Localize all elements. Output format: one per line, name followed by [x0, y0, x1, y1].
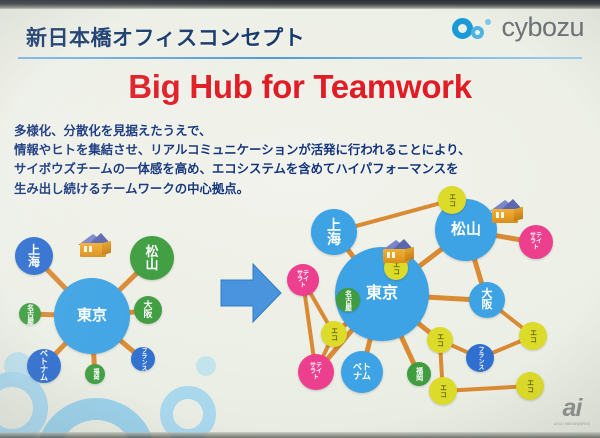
diagram-node-l-vietnam[interactable]: ベトナム [27, 349, 61, 383]
diagram-node-r-france[interactable]: フランス [466, 344, 494, 372]
diagram-node-r-eco4[interactable]: エコ [427, 327, 453, 353]
diagram-node-r-shanghai[interactable]: 上海 [311, 209, 357, 255]
node-label: ナム [353, 372, 371, 381]
node-label: ト [530, 245, 542, 251]
node-label: 阪 [482, 300, 493, 311]
node-label: ム [40, 374, 48, 382]
diagram-node-r-eco5[interactable]: エコ [519, 322, 547, 350]
projection-top-band [0, 0, 600, 9]
diagram-node-r-eco6[interactable]: エコ [429, 377, 457, 405]
diagram-node-l-nagoya[interactable]: 名古屋 [19, 303, 41, 325]
logo-dot-icon [485, 19, 491, 25]
node-label: 東京 [77, 308, 107, 323]
node-label: ト [297, 283, 309, 289]
body-line-1: 多様化、分散化を見据えたうえで、 [14, 122, 586, 141]
body-copy: 多様化、分散化を見据えたうえで、情報やヒトを集結させ、リアルコミュニケーションが… [14, 122, 586, 199]
body-line-3: サイボウズチームの一体感を高め、エコシステムを含めてハイパフォーマンスを [14, 160, 586, 179]
node-label: 上 [327, 218, 341, 232]
node-label: 福岡 [415, 367, 422, 381]
diagram-node-l-france[interactable]: フランス [131, 347, 155, 371]
ai-logo-subtext: ASCII MEDIAWORKS [554, 422, 590, 426]
logo-ring-large-icon [452, 18, 473, 39]
node-label: フランス [477, 346, 483, 370]
diagram-node-r-osaka[interactable]: 大阪 [469, 282, 505, 318]
node-label: エコ [392, 261, 399, 275]
slide-canvas: 新日本橋オフィスコンセプト cybozu Big Hub for Teamwor… [0, 0, 600, 438]
node-label: 海 [28, 256, 40, 268]
node-label: 福岡 [92, 368, 98, 380]
diagram-node-l-shanghai[interactable]: 上海 [15, 237, 53, 275]
node-label: 東京 [366, 286, 398, 302]
node-label: 海 [327, 232, 341, 246]
node-label: エコ [529, 329, 536, 343]
cybozu-logotype: cybozu [501, 12, 584, 43]
diagram-node-r-vietnam[interactable]: ベトナム [341, 351, 383, 393]
node-label: フランス [140, 347, 146, 371]
node-label: エコ [330, 327, 337, 341]
diagram-node-l-matsuyama[interactable]: 松山 [130, 236, 174, 280]
diagram-node-l-fukuoka[interactable]: 福岡 [85, 364, 105, 384]
node-label: ト [310, 375, 322, 381]
node-label: エコ [526, 379, 533, 393]
headline: Big Hub for Teamwork [0, 68, 600, 106]
body-line-2: 情報やヒトを集結させ、リアルコミュニケーションが活発に行われることにより、 [14, 141, 586, 160]
cybozu-rings-icon [452, 14, 496, 42]
node-label: 松 [145, 245, 158, 258]
logo-ring-small-icon [471, 26, 484, 39]
node-label: 阪 [143, 310, 152, 319]
diagram-node-l-tokyo[interactable]: 東京 [54, 278, 130, 354]
node-label: 松山 [451, 222, 481, 237]
projection-bottom-band [0, 432, 600, 438]
node-label: 名古屋 [344, 290, 351, 311]
cybozu-logo: cybozu [452, 12, 584, 43]
diagram-node-l-osaka[interactable]: 大阪 [134, 296, 162, 324]
node-label: エコ [448, 193, 455, 207]
transition-arrow-icon [219, 262, 283, 324]
diagram-node-r-fukuoka[interactable]: 福岡 [407, 362, 431, 386]
node-label: 名古屋 [26, 304, 33, 325]
diagram-node-r-eco3[interactable]: エコ [321, 321, 347, 347]
diagram-node-r-eco7[interactable]: エコ [516, 372, 544, 400]
ascii-watermark: ai ASCII MEDIAWORKS [554, 396, 590, 426]
node-label: エコ [436, 333, 443, 347]
diagram-node-r-sat3[interactable]: サテライト [519, 225, 553, 259]
page-title: 新日本橋オフィスコンセプト [26, 22, 305, 52]
diagram-node-r-nagoya[interactable]: 名古屋 [336, 288, 360, 312]
diagram-node-r-eco1[interactable]: エコ [438, 186, 466, 214]
node-label: 山 [145, 258, 158, 271]
title-underline [18, 57, 582, 59]
ai-logo-text: ai [554, 396, 590, 421]
node-label: エコ [439, 384, 446, 398]
concept-diagram: 東京上海松山名古屋大阪ベトナム福岡フランス東京上海松山大阪名古屋福岡ベトナムフラ… [0, 196, 600, 438]
diagram-node-r-sat1[interactable]: サテライト [287, 264, 319, 296]
diagram-node-r-sat2[interactable]: サテライト [298, 354, 334, 390]
